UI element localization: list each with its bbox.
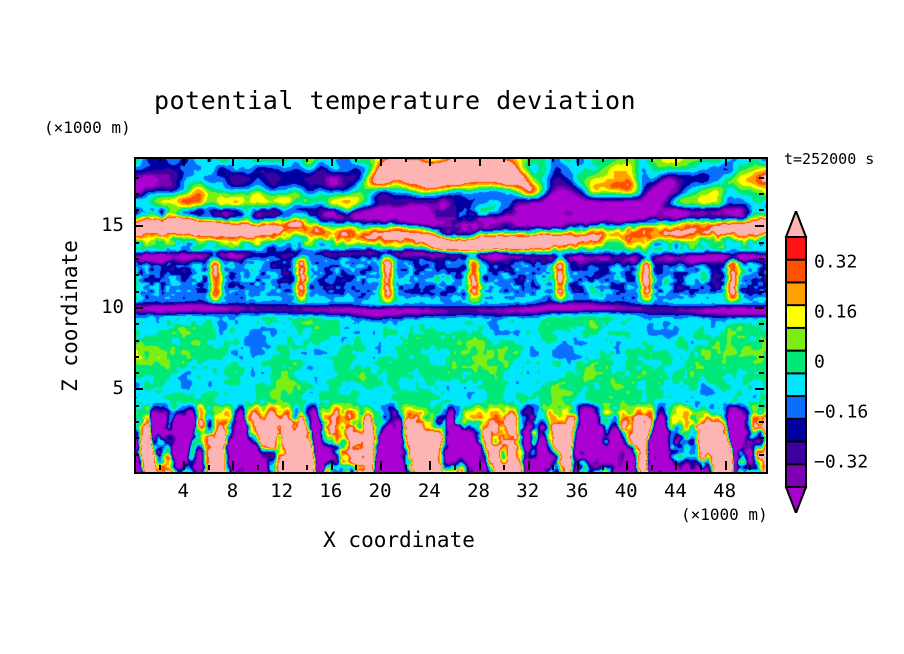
x-tick-minor	[355, 465, 357, 470]
x-axis-title: X coordinate	[0, 528, 904, 552]
x-tick-minor	[257, 465, 259, 470]
x-tick-major-top	[282, 157, 284, 166]
x-tick-label: 24	[418, 480, 441, 502]
z-tick-major-right	[755, 307, 764, 309]
x-tick-minor-top	[700, 157, 702, 162]
z-tick-minor-right	[759, 274, 764, 276]
z-tick-label: 5	[84, 377, 124, 399]
z-tick-minor-right	[759, 340, 764, 342]
x-tick-label: 16	[319, 480, 342, 502]
x-tick-label: 8	[227, 480, 238, 502]
x-tick-minor-top	[552, 157, 554, 162]
x-tick-label: 48	[713, 480, 736, 502]
z-tick-minor	[134, 454, 139, 456]
colorbar-band	[786, 351, 806, 374]
z-tick-minor	[134, 356, 139, 358]
x-tick-minor	[602, 465, 604, 470]
x-axis-unit-note: (×1000 m)	[681, 505, 768, 524]
z-axis-unit-note: (×1000 m)	[44, 118, 131, 137]
x-tick-major-top	[626, 157, 628, 166]
x-tick-major-top	[429, 157, 431, 166]
z-tick-minor	[134, 242, 139, 244]
z-tick-minor	[134, 405, 139, 407]
z-tick-minor-right	[759, 356, 764, 358]
colorbar-band	[786, 373, 806, 396]
x-tick-major	[380, 461, 382, 470]
x-tick-minor	[552, 465, 554, 470]
x-tick-major	[626, 461, 628, 470]
colorbar-band	[786, 396, 806, 419]
x-tick-major	[331, 461, 333, 470]
colorbar-band	[786, 328, 806, 351]
x-tick-major	[528, 461, 530, 470]
x-tick-minor	[454, 465, 456, 470]
contour-canvas	[136, 159, 766, 472]
z-tick-minor	[134, 291, 139, 293]
z-tick-minor-right	[759, 242, 764, 244]
colorbar	[784, 211, 808, 513]
z-tick-minor-right	[759, 193, 764, 195]
x-tick-minor	[700, 465, 702, 470]
x-tick-major	[725, 461, 727, 470]
x-tick-major-top	[380, 157, 382, 166]
z-tick-major	[134, 388, 143, 390]
z-tick-minor	[134, 421, 139, 423]
x-tick-minor-top	[454, 157, 456, 162]
contour-plot-area	[134, 157, 768, 474]
z-tick-minor	[134, 323, 139, 325]
colorbar-tick-label: 0.32	[814, 252, 857, 273]
z-tick-minor-right	[759, 454, 764, 456]
z-tick-major-right	[755, 225, 764, 227]
z-tick-major	[134, 307, 143, 309]
x-tick-minor-top	[355, 157, 357, 162]
z-tick-major	[134, 225, 143, 227]
x-tick-minor	[405, 465, 407, 470]
z-tick-minor	[134, 274, 139, 276]
x-tick-major-top	[331, 157, 333, 166]
x-tick-minor-top	[602, 157, 604, 162]
z-tick-minor-right	[759, 291, 764, 293]
contour-figure: potential temperature deviation (×1000 m…	[0, 0, 904, 654]
x-tick-label: 32	[516, 480, 539, 502]
x-tick-minor-top	[306, 157, 308, 162]
x-tick-label: 12	[270, 480, 293, 502]
colorbar-tick-label: 0.16	[814, 302, 857, 323]
x-tick-major-top	[675, 157, 677, 166]
colorbar-band	[786, 305, 806, 328]
page-title: potential temperature deviation	[0, 86, 790, 115]
z-tick-minor	[134, 372, 139, 374]
x-tick-minor	[503, 465, 505, 470]
x-tick-minor	[651, 465, 653, 470]
x-tick-minor-top	[208, 157, 210, 162]
x-tick-major-top	[528, 157, 530, 166]
x-tick-minor-top	[503, 157, 505, 162]
x-tick-minor-top	[405, 157, 407, 162]
colorbar-over-arrow	[786, 211, 806, 237]
colorbar-under-arrow	[786, 487, 806, 513]
x-axis-title-text: X coordinate	[323, 528, 475, 552]
colorbar-band	[786, 442, 806, 465]
colorbar-band	[786, 464, 806, 487]
x-tick-minor-top	[651, 157, 653, 162]
z-tick-minor	[134, 193, 139, 195]
z-tick-minor	[134, 258, 139, 260]
x-tick-minor	[159, 465, 161, 470]
z-tick-minor-right	[759, 405, 764, 407]
x-tick-major	[183, 461, 185, 470]
x-tick-label: 4	[177, 480, 188, 502]
colorbar-tick-label: −0.32	[814, 452, 868, 473]
x-tick-minor-top	[257, 157, 259, 162]
x-tick-major	[232, 461, 234, 470]
x-tick-label: 28	[467, 480, 490, 502]
colorbar-tick-label: 0	[814, 352, 825, 373]
x-tick-minor-top	[749, 157, 751, 162]
z-axis-title: Z coordinate	[58, 216, 82, 416]
z-tick-minor-right	[759, 209, 764, 211]
x-tick-minor	[208, 465, 210, 470]
x-tick-major	[282, 461, 284, 470]
colorbar-band	[786, 260, 806, 283]
colorbar-tick-label: −0.16	[814, 402, 868, 423]
x-tick-major-top	[725, 157, 727, 166]
z-tick-minor-right	[759, 258, 764, 260]
x-tick-minor-top	[159, 157, 161, 162]
x-tick-major	[577, 461, 579, 470]
z-tick-label: 10	[84, 296, 124, 318]
colorbar-svg	[784, 211, 808, 513]
z-tick-minor	[134, 340, 139, 342]
x-tick-major-top	[577, 157, 579, 166]
z-tick-minor-right	[759, 323, 764, 325]
z-tick-minor-right	[759, 177, 764, 179]
x-tick-major	[429, 461, 431, 470]
z-tick-minor-right	[759, 421, 764, 423]
x-tick-major-top	[479, 157, 481, 166]
colorbar-band	[786, 282, 806, 305]
x-tick-major-top	[232, 157, 234, 166]
z-tick-minor	[134, 177, 139, 179]
z-tick-minor-right	[759, 372, 764, 374]
x-tick-minor	[306, 465, 308, 470]
timestamp-annotation: t=252000 s	[784, 150, 874, 168]
colorbar-band	[786, 237, 806, 260]
colorbar-band	[786, 419, 806, 442]
x-tick-label: 36	[566, 480, 589, 502]
x-tick-major-top	[183, 157, 185, 166]
z-tick-minor	[134, 209, 139, 211]
x-tick-minor	[749, 465, 751, 470]
z-tick-label: 15	[84, 214, 124, 236]
z-tick-major-right	[755, 388, 764, 390]
x-tick-major	[675, 461, 677, 470]
x-tick-label: 44	[664, 480, 687, 502]
z-tick-minor	[134, 437, 139, 439]
z-tick-minor-right	[759, 437, 764, 439]
x-tick-label: 20	[369, 480, 392, 502]
x-tick-major	[479, 461, 481, 470]
x-tick-label: 40	[615, 480, 638, 502]
